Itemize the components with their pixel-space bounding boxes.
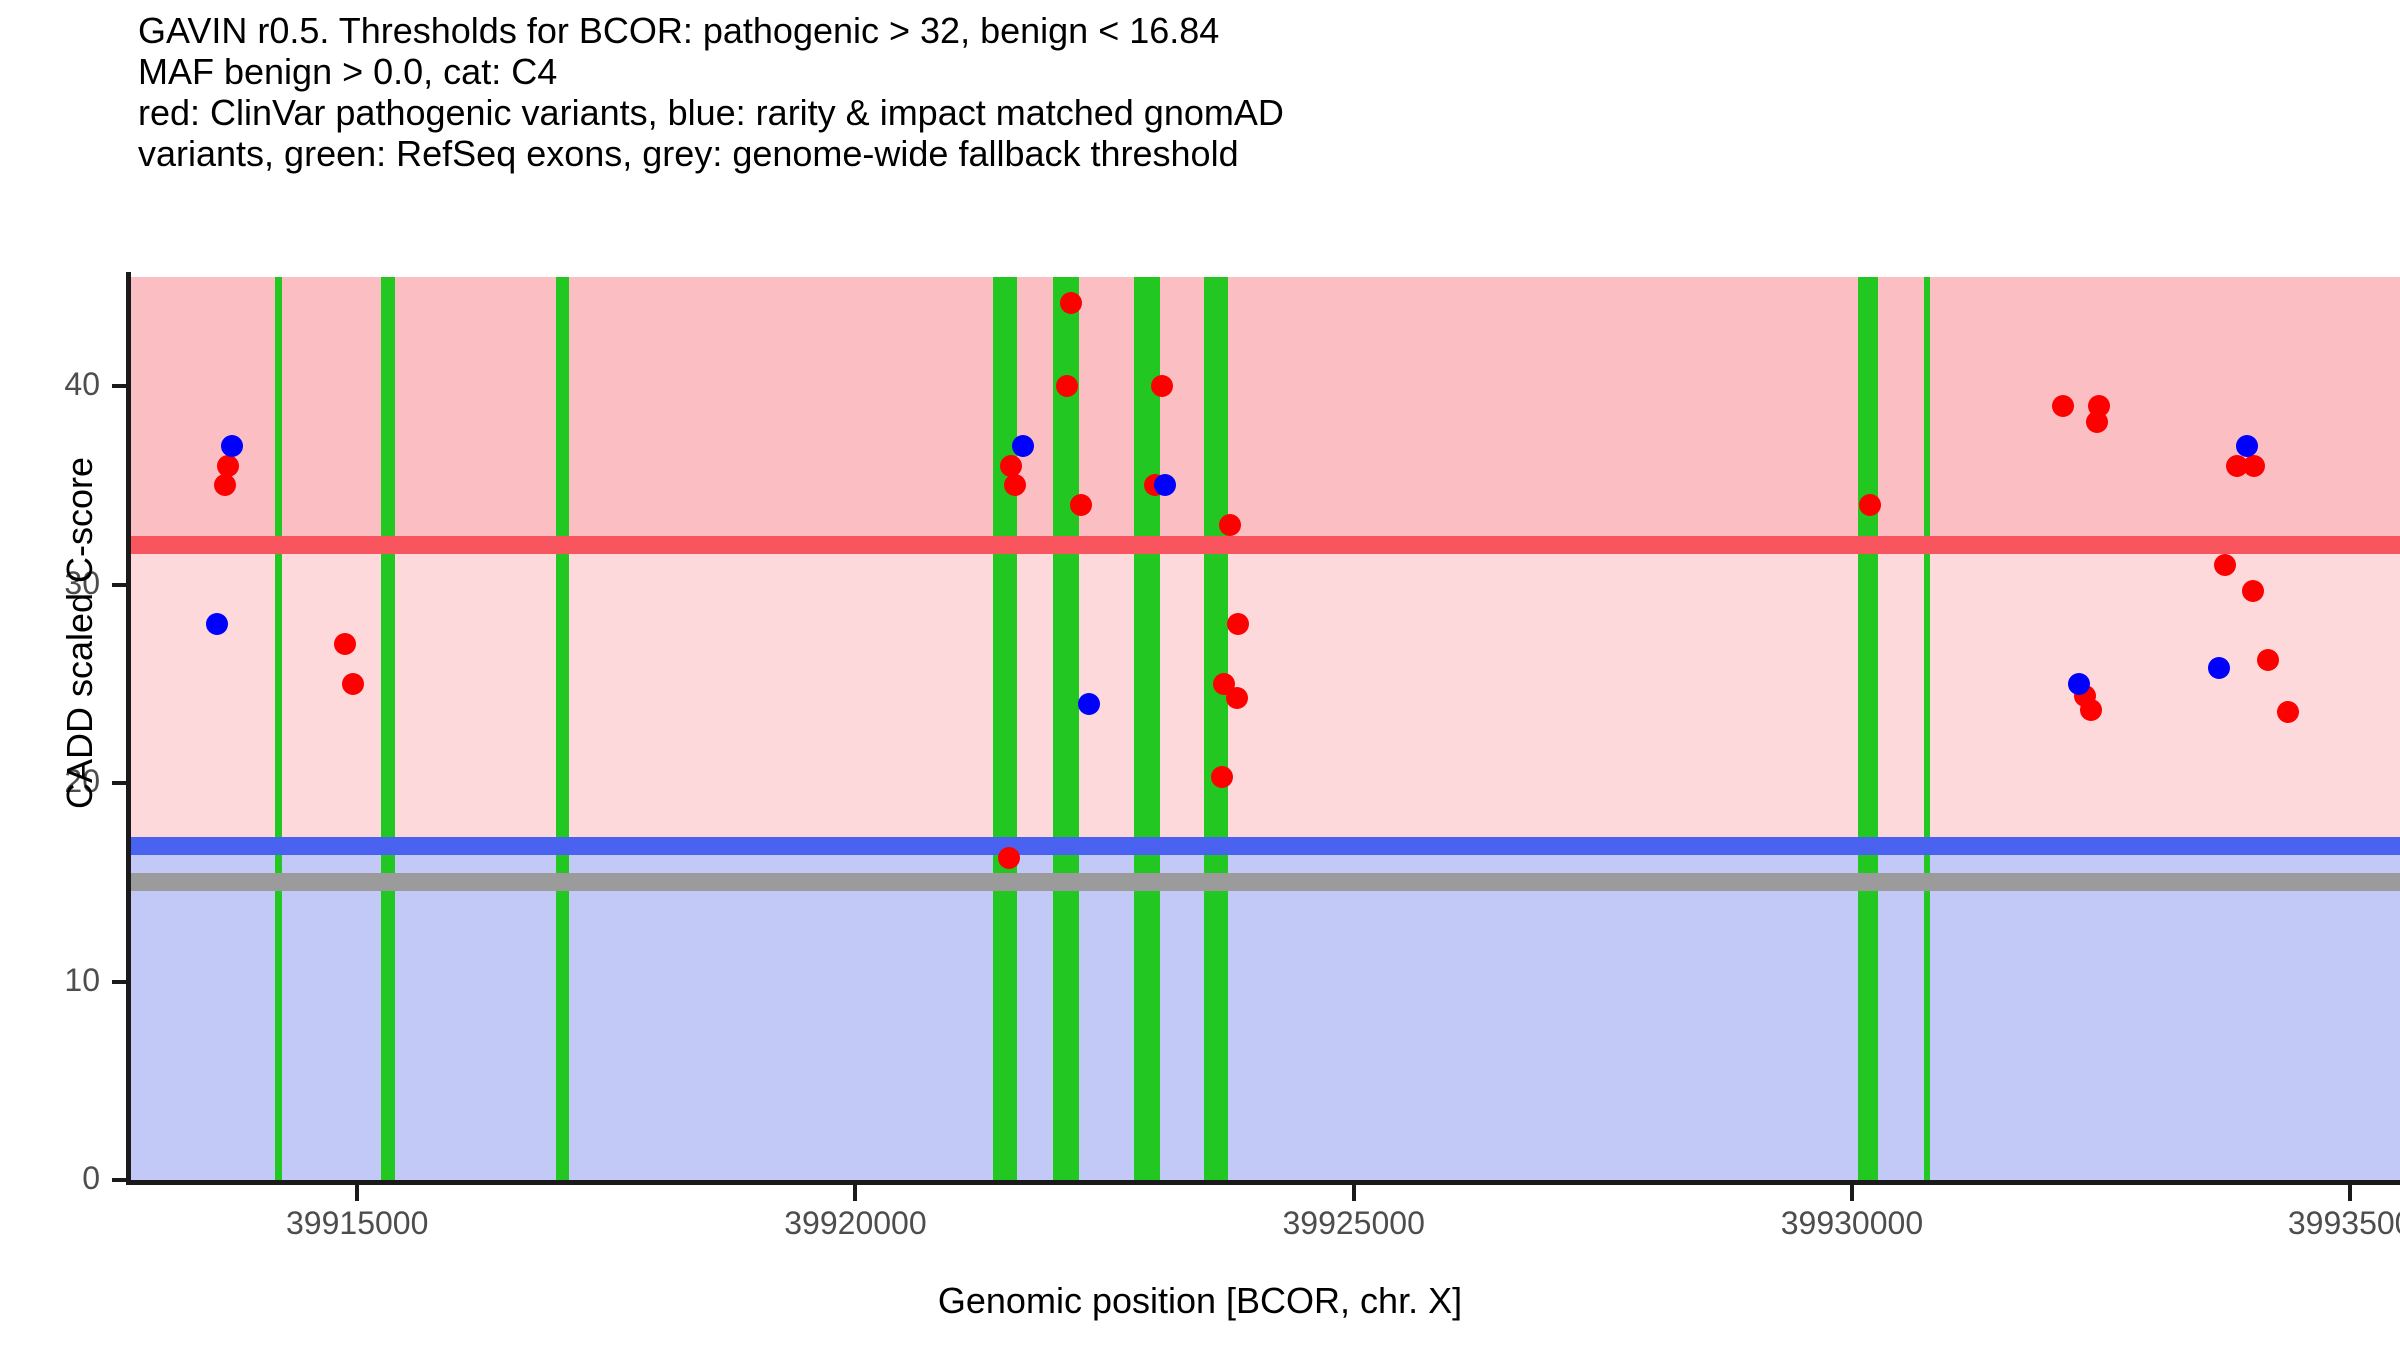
exon-bar	[1858, 277, 1878, 1180]
pathogenic-variant-point	[2214, 554, 2236, 576]
y-axis-tick	[112, 980, 128, 984]
pathogenic-variant-point	[217, 455, 239, 477]
exon-bar	[556, 277, 569, 1180]
x-axis-tick	[2348, 1185, 2352, 1201]
exon-bar	[1924, 277, 1930, 1180]
benign-variant-point	[206, 613, 228, 635]
benign-variant-point	[2236, 435, 2258, 457]
benign-variant-point	[1012, 435, 1034, 457]
benign-threshold-line	[128, 837, 2400, 855]
title-line-2: MAF benign > 0.0, cat: C4	[138, 51, 2338, 92]
zone-benign	[128, 846, 2400, 1180]
x-axis-tick-label: 39930000	[1702, 1205, 2002, 1242]
y-axis-line	[126, 272, 131, 1184]
pathogenic-variant-point	[1226, 687, 1248, 709]
title-line-1: GAVIN r0.5. Thresholds for BCOR: pathoge…	[138, 10, 2338, 51]
pathogenic-threshold-line	[128, 536, 2400, 554]
pathogenic-variant-point	[214, 474, 236, 496]
y-axis-tick	[112, 1178, 128, 1182]
y-axis-tick	[112, 781, 128, 785]
pathogenic-variant-point	[1060, 292, 1082, 314]
pathogenic-variant-point	[342, 673, 364, 695]
benign-variant-point	[2068, 673, 2090, 695]
pathogenic-variant-point	[1859, 494, 1881, 516]
pathogenic-variant-point	[2277, 701, 2299, 723]
y-axis-tick-label: 10	[0, 962, 100, 999]
benign-variant-point	[221, 435, 243, 457]
exon-bar	[993, 277, 1017, 1180]
y-axis-title: CADD scaled C-score	[59, 313, 101, 953]
benign-variant-point	[1078, 693, 1100, 715]
zone-pathogenic-lower	[128, 545, 2400, 846]
exon-bar	[1204, 277, 1228, 1180]
exon-bar	[381, 277, 395, 1180]
pathogenic-variant-point	[2052, 395, 2074, 417]
fallback-threshold-line	[128, 873, 2400, 891]
y-axis-tick-label: 0	[0, 1160, 100, 1197]
x-axis-line	[126, 1180, 2400, 1185]
x-axis-tick-label: 39915000	[207, 1205, 507, 1242]
title-line-3: red: ClinVar pathogenic variants, blue: …	[138, 92, 2338, 133]
x-axis-tick-label: 39925000	[1204, 1205, 1504, 1242]
chart-title-block: GAVIN r0.5. Thresholds for BCOR: pathoge…	[138, 10, 2338, 174]
exon-bar	[1053, 277, 1079, 1180]
x-axis-title: Genomic position [BCOR, chr. X]	[0, 1280, 2400, 1322]
exon-bar	[1134, 277, 1160, 1180]
pathogenic-variant-point	[2243, 455, 2265, 477]
title-line-4: variants, green: RefSeq exons, grey: gen…	[138, 133, 2338, 174]
x-axis-tick-label: 39920000	[705, 1205, 1005, 1242]
pathogenic-variant-point	[1070, 494, 1092, 516]
x-axis-tick	[355, 1185, 359, 1201]
x-axis-tick	[1352, 1185, 1356, 1201]
pathogenic-variant-point	[2080, 699, 2102, 721]
chart-root: GAVIN r0.5. Thresholds for BCOR: pathoge…	[0, 0, 2400, 1350]
x-axis-tick-label: 3993500	[2200, 1205, 2400, 1242]
exon-bar	[275, 277, 282, 1180]
y-axis-tick	[112, 583, 128, 587]
pathogenic-variant-point	[1219, 514, 1241, 536]
x-axis-tick	[1850, 1185, 1854, 1201]
plot-panel	[128, 277, 2400, 1180]
pathogenic-variant-point	[1000, 455, 1022, 477]
x-axis-tick	[853, 1185, 857, 1201]
pathogenic-variant-point	[1056, 375, 1078, 397]
y-axis-tick	[112, 384, 128, 388]
pathogenic-variant-point	[2242, 580, 2264, 602]
benign-variant-point	[2208, 657, 2230, 679]
pathogenic-variant-point	[2086, 411, 2108, 433]
